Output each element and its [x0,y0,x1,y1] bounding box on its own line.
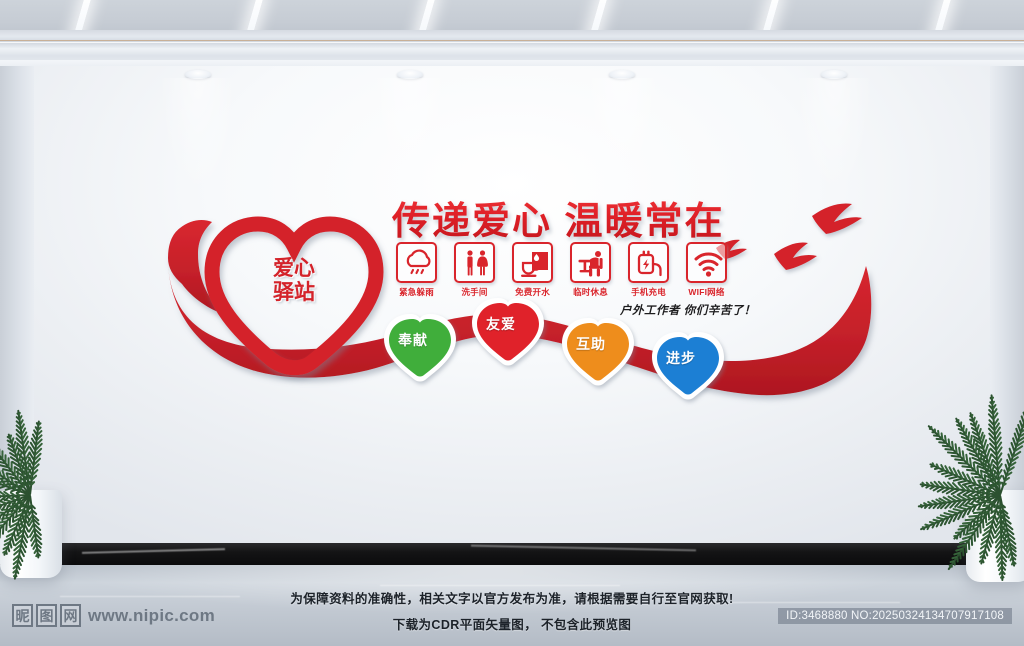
page-title: 传递爱心 温暖常在 [392,190,725,245]
service-icon-2[interactable]: 洗手间 [454,242,495,298]
logo-line-2: 驿站 [244,282,344,304]
rest-seat-icon [570,242,611,283]
palm-frond [29,420,40,495]
service-icon-6[interactable]: WIFI网络 [686,242,727,298]
service-icon-4[interactable]: 临时休息 [570,242,611,298]
value-heart-label-3: 互助 [576,334,606,354]
plant-left [0,398,134,578]
service-icon-label: 免费开水 [512,286,553,298]
service-icon-label: WIFI网络 [686,286,727,298]
downlight [185,70,211,79]
sub-slogan: 户外工作者 你们辛苦了！ [620,302,756,318]
watermark-cn-logo: 昵图网 [12,604,81,627]
logo-line-1: 爱心 [244,258,344,280]
watermark-char: 网 [60,604,81,627]
downlight [397,70,423,79]
service-icon-5[interactable]: 手机充电 [628,242,669,298]
downlight [821,70,847,79]
downlight [609,70,635,79]
asset-id-chip: ID:3468880 NO:20250324134707917108 [778,608,1012,624]
restroom-icon [454,242,495,283]
service-icon-label: 临时休息 [570,286,611,298]
service-icon-3[interactable]: 免费开水 [512,242,553,298]
site-watermark: 昵图网 www.nipic.com [12,604,215,627]
service-icon-label: 洗手间 [454,286,495,298]
phone-charge-icon [628,242,669,283]
service-icon-label: 紧急躲雨 [396,286,437,298]
watermark-char: 图 [36,604,57,627]
screenshot-root: 爱心 驿站 传递爱心 温暖常在 紧急躲雨洗手间免费开水临时休息手机充电WIFI网… [0,0,1024,646]
plant-right [930,392,1024,578]
watermark-url: www.nipic.com [88,606,215,626]
value-heart-label-1: 奉献 [398,330,428,350]
watermark-char: 昵 [12,604,33,627]
flying-birds [716,204,862,271]
marble-baseboard [0,543,1024,565]
logo-text: 爱心 驿站 [244,258,344,304]
service-icon-label: 手机充电 [628,286,669,298]
rain-cloud-icon [396,242,437,283]
wall-artwork: 爱心 驿站 传递爱心 温暖常在 紧急躲雨洗手间免费开水临时休息手机充电WIFI网… [150,180,890,400]
value-heart-label-4: 进步 [666,348,696,368]
hot-water-icon [512,242,553,283]
value-heart-label-2: 友爱 [486,314,516,334]
wifi-icon [686,242,727,283]
service-icon-1[interactable]: 紧急躲雨 [396,242,437,298]
